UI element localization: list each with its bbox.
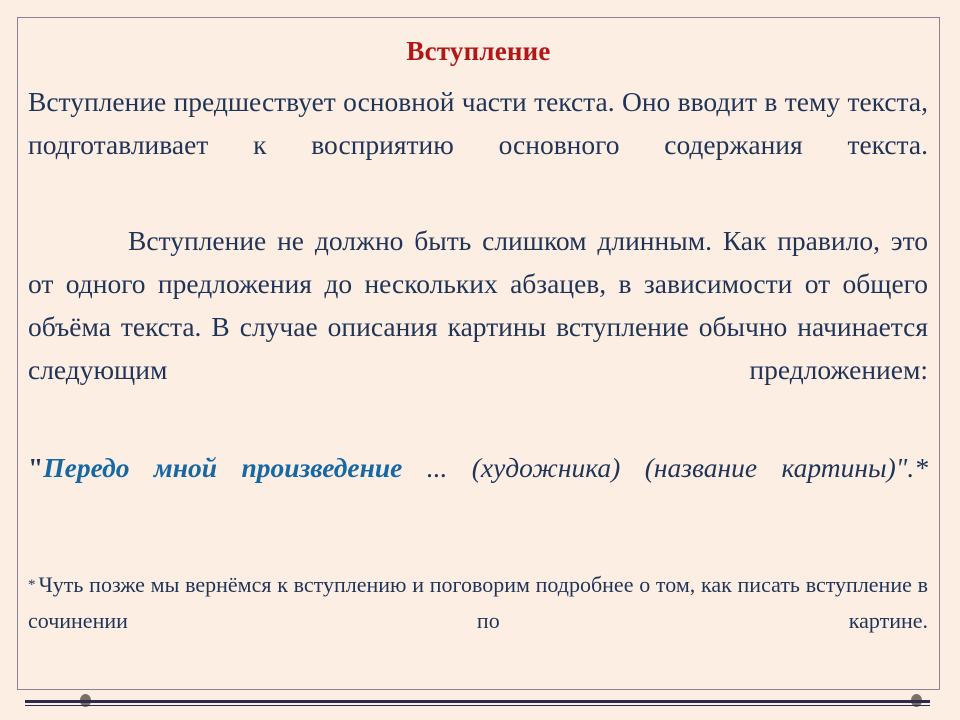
body-text-container: Вступление предшествует основной части т…	[28, 80, 928, 675]
quote-remainder: ... (художника) (название картины)".*	[402, 452, 928, 483]
paragraph-intro-definition: Вступление предшествует основной части т…	[28, 80, 928, 209]
footnote: *Чуть позже мы вернёмся к вступлению и п…	[28, 567, 928, 675]
content-frame: Вступление Вступление предшествует основ…	[17, 17, 940, 690]
paragraph-intro-length: Вступление не должно быть слишком длинны…	[28, 219, 928, 434]
bottom-rule-thin	[25, 705, 930, 706]
quote-highlight-phrase: Передо мной произведение	[43, 452, 402, 483]
example-sentence: "Передо мной произведение ... (художника…	[28, 447, 928, 529]
quote-open-mark: "	[28, 452, 43, 483]
footnote-text: Чуть позже мы вернёмся к вступлению и по…	[28, 572, 928, 633]
footnote-marker: *	[28, 577, 36, 593]
slide: Вступление Вступление предшествует основ…	[0, 0, 960, 720]
page-title: Вступление	[18, 37, 939, 67]
bottom-rule-thick	[25, 700, 930, 703]
